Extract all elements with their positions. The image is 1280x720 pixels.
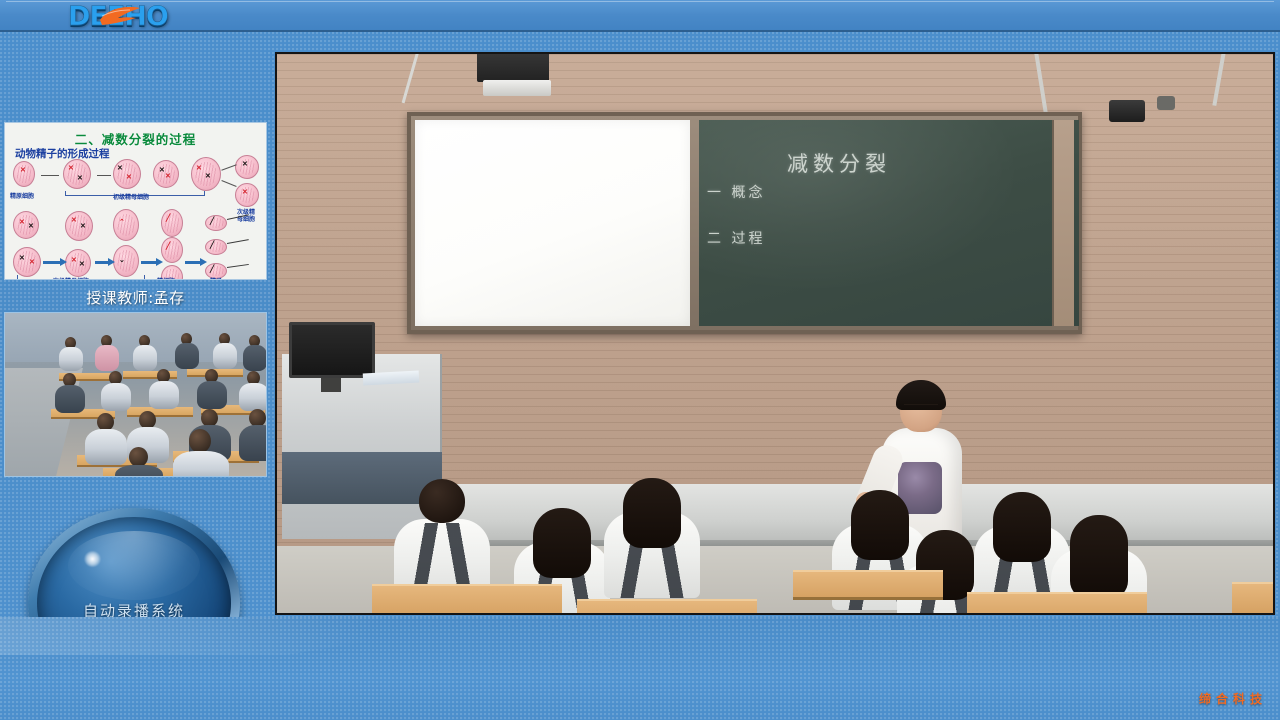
main-video-feed[interactable]: 减数分裂 一 概念 二 过程 xyxy=(275,52,1275,615)
projection-screen xyxy=(415,120,690,326)
blackboard: 减数分裂 一 概念 二 过程 xyxy=(699,120,1079,326)
deeho-logo[interactable]: DEEHO xyxy=(68,1,168,31)
meiosis-diagram: ✕ ✕ ✕ ✕ ✕ ✕ ✕ ✕ ✕ ✕ ✕ 精原细胞 初级精母细胞 次级精母细 xyxy=(5,157,267,280)
student-desk-4 xyxy=(967,592,1147,615)
classroom-camera-thumbnail[interactable] xyxy=(4,312,267,477)
blackboard-side-panel xyxy=(1052,120,1074,326)
ceiling-camera xyxy=(1109,100,1145,122)
recording-system-screen: DEEHO 二、减数分裂的过程 动物精子的形成过程 ✕ ✕ ✕ ✕ ✕ ✕ ✕ xyxy=(0,0,1280,720)
student-desk-5 xyxy=(1232,582,1275,615)
diagram-label-5: 精子 xyxy=(210,276,222,280)
teacher-glasses xyxy=(904,404,938,412)
bottom-bar: 课程名称:减数分裂 缔合科技 xyxy=(0,617,1280,720)
blackboard-line-1: 一 概念 xyxy=(707,182,765,202)
diagram-label-0: 精原细胞 xyxy=(10,191,34,200)
diagram-label-3: 次级精母细胞 xyxy=(53,276,89,280)
blackboard-title: 减数分裂 xyxy=(787,148,891,178)
diagram-label-4: 精细胞 xyxy=(157,276,175,280)
teacher-name-bar: 授课教师:孟存 xyxy=(4,284,267,311)
projector-mount xyxy=(477,52,549,82)
podium-monitor xyxy=(289,322,375,378)
ceiling-speaker xyxy=(1157,96,1175,110)
student-desk-1 xyxy=(372,584,562,615)
student-back-3 xyxy=(597,472,707,612)
app-header: DEEHO xyxy=(0,0,1280,32)
monitor-stand xyxy=(321,378,341,392)
logo-text: DEEHO xyxy=(68,1,168,32)
vendor-brand-mark: 缔合科技 xyxy=(1199,690,1267,707)
projector-body xyxy=(483,80,551,96)
slide-preview-panel[interactable]: 二、减数分裂的过程 动物精子的形成过程 ✕ ✕ ✕ ✕ ✕ ✕ ✕ ✕ ✕ ✕ … xyxy=(4,122,267,280)
whiteboard-blackboard-frame: 减数分裂 一 概念 二 过程 xyxy=(407,112,1082,334)
student-desk-3 xyxy=(793,570,943,600)
diagram-label-1: 初级精母细胞 xyxy=(113,192,149,201)
badge-specular-highlight xyxy=(84,551,101,567)
student-desk-2 xyxy=(577,599,757,615)
teacher-name-text: 授课教师:孟存 xyxy=(86,287,185,308)
blackboard-line-2: 二 过程 xyxy=(707,228,765,248)
